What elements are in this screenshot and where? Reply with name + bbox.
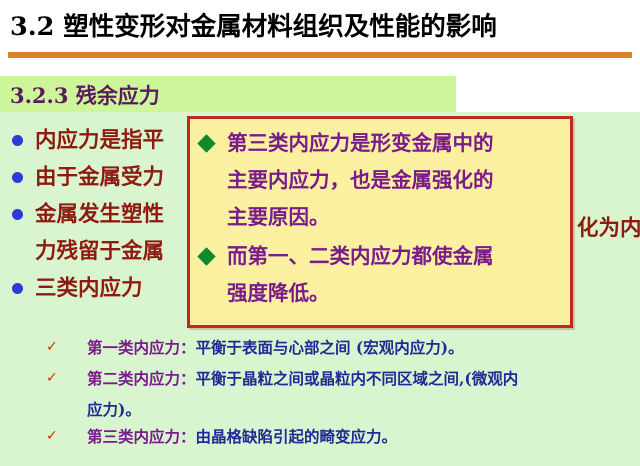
list-item: ✓ 第一类内应力：平衡于表面与心部之间 (宏观内应力)。 bbox=[0, 334, 640, 361]
disc-bullet-icon bbox=[12, 135, 23, 146]
title-bar: 3.2 塑性变形对金属材料组织及性能的影响 bbox=[0, 0, 640, 52]
callout-item-text: 而第一、二类内应力都使金属 强度降低。 bbox=[227, 238, 494, 312]
sub-item-label: 第二类内应力： bbox=[87, 369, 196, 388]
sub-item-label: 第三类内应力： bbox=[87, 427, 196, 446]
check-icon: ✓ bbox=[46, 423, 59, 450]
disc-bullet-icon bbox=[12, 283, 23, 294]
callout-line: 主要原因。 bbox=[227, 205, 330, 229]
sub-item-label: 第一类内应力： bbox=[87, 338, 196, 357]
disc-bullet-icon bbox=[12, 172, 23, 183]
list-item: ✓ 第二类内应力：平衡于晶粒之间或晶粒内不同区域之间,(微观内 bbox=[0, 365, 640, 392]
sub-item-desc: 由晶格缺陷引起的畸变应力。 bbox=[196, 427, 398, 446]
section-heading: 3.2.3 残余应力 bbox=[10, 80, 160, 110]
disc-bullet-icon bbox=[12, 209, 23, 220]
callout-line: 而第一、二类内应力都使金属 bbox=[227, 244, 494, 268]
sub-item-desc: 平衡于表面与心部之间 (宏观内应力)。 bbox=[196, 338, 464, 357]
list-item-text: 三类内应力 bbox=[35, 272, 143, 306]
callout-line: 主要内应力，也是金属强化的 bbox=[227, 168, 494, 192]
callout-box: 第三类内应力是形变金属中的 主要内应力，也是金属强化的 主要原因。 而第一、二类… bbox=[187, 116, 573, 328]
slide-title: 3.2 塑性变形对金属材料组织及性能的影响 bbox=[10, 6, 634, 43]
callout-list-item: 而第一、二类内应力都使金属 强度降低。 bbox=[190, 238, 570, 312]
callout-item-text: 第三类内应力是形变金属中的 主要内应力，也是金属强化的 主要原因。 bbox=[227, 125, 494, 236]
callout-line: 强度降低。 bbox=[227, 281, 330, 305]
list-item-text: 金属发生塑性 bbox=[35, 198, 164, 232]
occluded-text-fragment: 化为内应 bbox=[577, 212, 640, 246]
sub-item-body: 第三类内应力：由晶格缺陷引起的畸变应力。 bbox=[87, 423, 397, 450]
callout-list-item: 第三类内应力是形变金属中的 主要内应力，也是金属强化的 主要原因。 bbox=[190, 125, 570, 236]
sub-item-desc: 平衡于晶粒之间或晶粒内不同区域之间,(微观内 bbox=[196, 369, 519, 388]
list-item: ✓ 第三类内应力：由晶格缺陷引起的畸变应力。 bbox=[0, 423, 640, 450]
diamond-bullet-icon bbox=[197, 247, 215, 265]
bullet-spacer bbox=[12, 235, 23, 246]
sub-item-body: 第二类内应力：平衡于晶粒之间或晶粒内不同区域之间,(微观内 bbox=[87, 365, 518, 392]
list-item-text: 由于金属受力 bbox=[35, 161, 164, 195]
list-item-text: 力残留于金属 bbox=[35, 235, 164, 269]
check-icon: ✓ bbox=[46, 334, 59, 361]
callout-line: 第三类内应力是形变金属中的 bbox=[227, 131, 494, 155]
check-icon: ✓ bbox=[46, 365, 59, 392]
sub-item-body: 第一类内应力：平衡于表面与心部之间 (宏观内应力)。 bbox=[87, 334, 464, 361]
title-divider-rule bbox=[8, 52, 632, 58]
diamond-bullet-icon bbox=[197, 134, 215, 152]
sub-item-continuation: 应力)。 bbox=[0, 396, 640, 423]
sub-list: ✓ 第一类内应力：平衡于表面与心部之间 (宏观内应力)。 ✓ 第二类内应力：平衡… bbox=[0, 334, 640, 454]
slide-canvas: 3.2 塑性变形对金属材料组织及性能的影响 3.2.3 残余应力 内应力是指平 … bbox=[0, 0, 640, 466]
list-item-text: 内应力是指平 bbox=[35, 124, 164, 158]
